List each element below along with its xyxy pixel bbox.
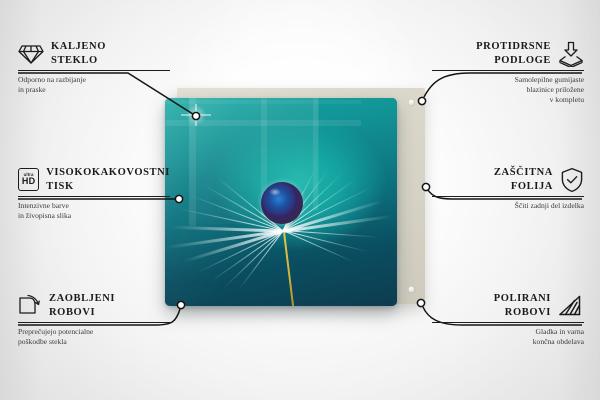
shield-check-icon	[560, 167, 584, 193]
glass-sheen	[165, 98, 397, 306]
feature-header: POLIRANI ROBOVI	[432, 292, 584, 319]
feature-header: PROTIDRSNE PODLOGE	[432, 40, 584, 67]
press-pad-icon	[558, 41, 584, 67]
feature-zascitna-folija: ZAŠČITNA FOLIJA Ščiti zadnji del izdelka	[432, 166, 584, 211]
hatched-triangle-icon	[558, 295, 584, 317]
feature-rule	[18, 70, 170, 71]
feature-protidrsne-podloge: PROTIDRSNE PODLOGE Samolepilne gumijaste…	[432, 40, 584, 105]
feature-subtitle: Gladka in varna končna obdelava	[432, 327, 584, 347]
feature-header: ultra HD VISOKOKAKOVOSTNI TISK	[18, 166, 170, 193]
feature-title: KALJENO STEKLO	[51, 40, 106, 67]
feature-subtitle: Intenzivne barve in živopisna slika	[18, 201, 170, 221]
feature-subtitle: Samolepilne gumijaste blazinice priložen…	[432, 75, 584, 105]
feature-title: VISOKOKAKOVOSTNI TISK	[46, 166, 170, 193]
rounded-corner-icon	[18, 294, 42, 317]
feature-title: ZAOBLJENI ROBOVI	[49, 292, 115, 319]
feature-rule	[432, 196, 584, 197]
feature-header: ZAŠČITNA FOLIJA	[432, 166, 584, 193]
feature-rule	[18, 322, 170, 323]
feature-header: ZAOBLJENI ROBOVI	[18, 292, 170, 319]
rubber-pad-bottom-right	[408, 286, 415, 293]
feature-header: KALJENO STEKLO	[18, 40, 170, 67]
feature-subtitle: Preprečujejo potencialne poškodbe stekla	[18, 327, 170, 347]
infographic-canvas: KALJENO STEKLO Odporno na razbijanje in …	[0, 0, 600, 400]
feature-subtitle: Ščiti zadnji del izdelka	[432, 201, 584, 211]
feature-rule	[432, 322, 584, 323]
feature-title: PROTIDRSNE PODLOGE	[476, 40, 551, 67]
feature-rule	[18, 196, 170, 197]
product-image	[165, 88, 425, 310]
rubber-pad-top-right	[408, 99, 415, 106]
feature-title: ZAŠČITNA FOLIJA	[494, 166, 553, 193]
glass-sparkle-icon	[183, 102, 209, 128]
diamond-icon	[18, 43, 44, 65]
feature-rule	[432, 70, 584, 71]
feature-subtitle: Odporno na razbijanje in praske	[18, 75, 170, 95]
feature-title: POLIRANI ROBOVI	[494, 292, 551, 319]
feature-visokokakovostni-tisk: ultra HD VISOKOKAKOVOSTNI TISK Intenzivn…	[18, 166, 170, 221]
feature-kaljeno-steklo: KALJENO STEKLO Odporno na razbijanje in …	[18, 40, 170, 95]
ultra-hd-icon: ultra HD	[18, 168, 39, 191]
feature-zaobljeni-robovi: ZAOBLJENI ROBOVI Preprečujejo potencialn…	[18, 292, 170, 347]
feature-polirani-robovi: POLIRANI ROBOVI Gladka in varna končna o…	[432, 292, 584, 347]
glass-panel	[165, 98, 397, 306]
